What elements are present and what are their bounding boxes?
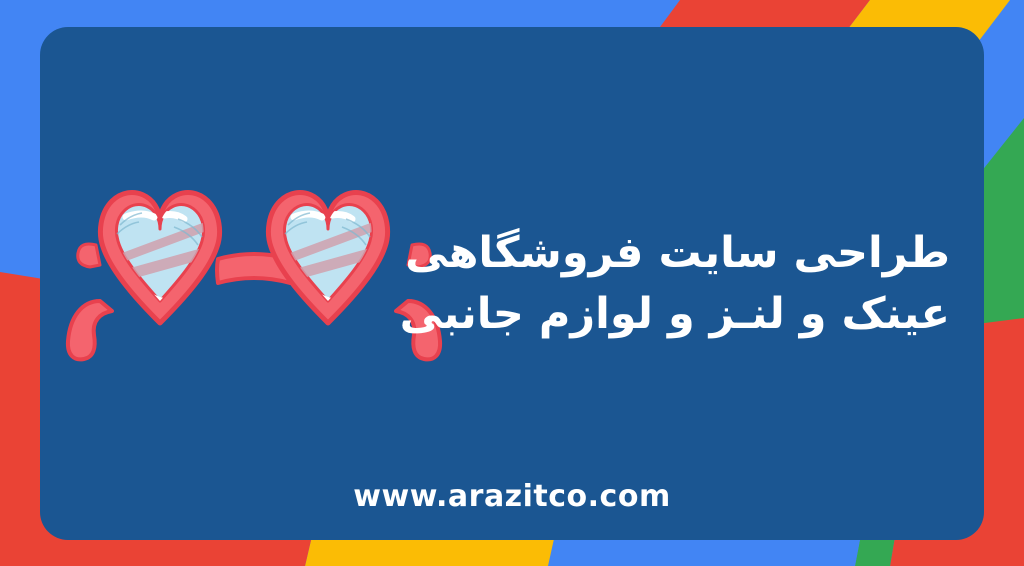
left-temple-arm [68, 301, 112, 359]
banner-content: طراحی سایت فروشگاهی عینک و لنـز و لوازم … [40, 27, 984, 540]
headline-line-1: طراحی سایت فروشگاهی [390, 223, 950, 284]
left-heart-frame [100, 192, 219, 323]
promo-banner: طراحی سایت فروشگاهی عینک و لنـز و لوازم … [0, 0, 1024, 566]
website-url[interactable]: www.arazitco.com [40, 479, 984, 514]
headline-line-2: عینک و لنـز و لوازم جانبی [390, 284, 950, 345]
headline: طراحی سایت فروشگاهی عینک و لنـز و لوازم … [390, 223, 950, 345]
right-heart-frame [268, 192, 387, 323]
banner-card: طراحی سایت فروشگاهی عینک و لنـز و لوازم … [40, 27, 984, 540]
left-hinge [78, 244, 100, 267]
